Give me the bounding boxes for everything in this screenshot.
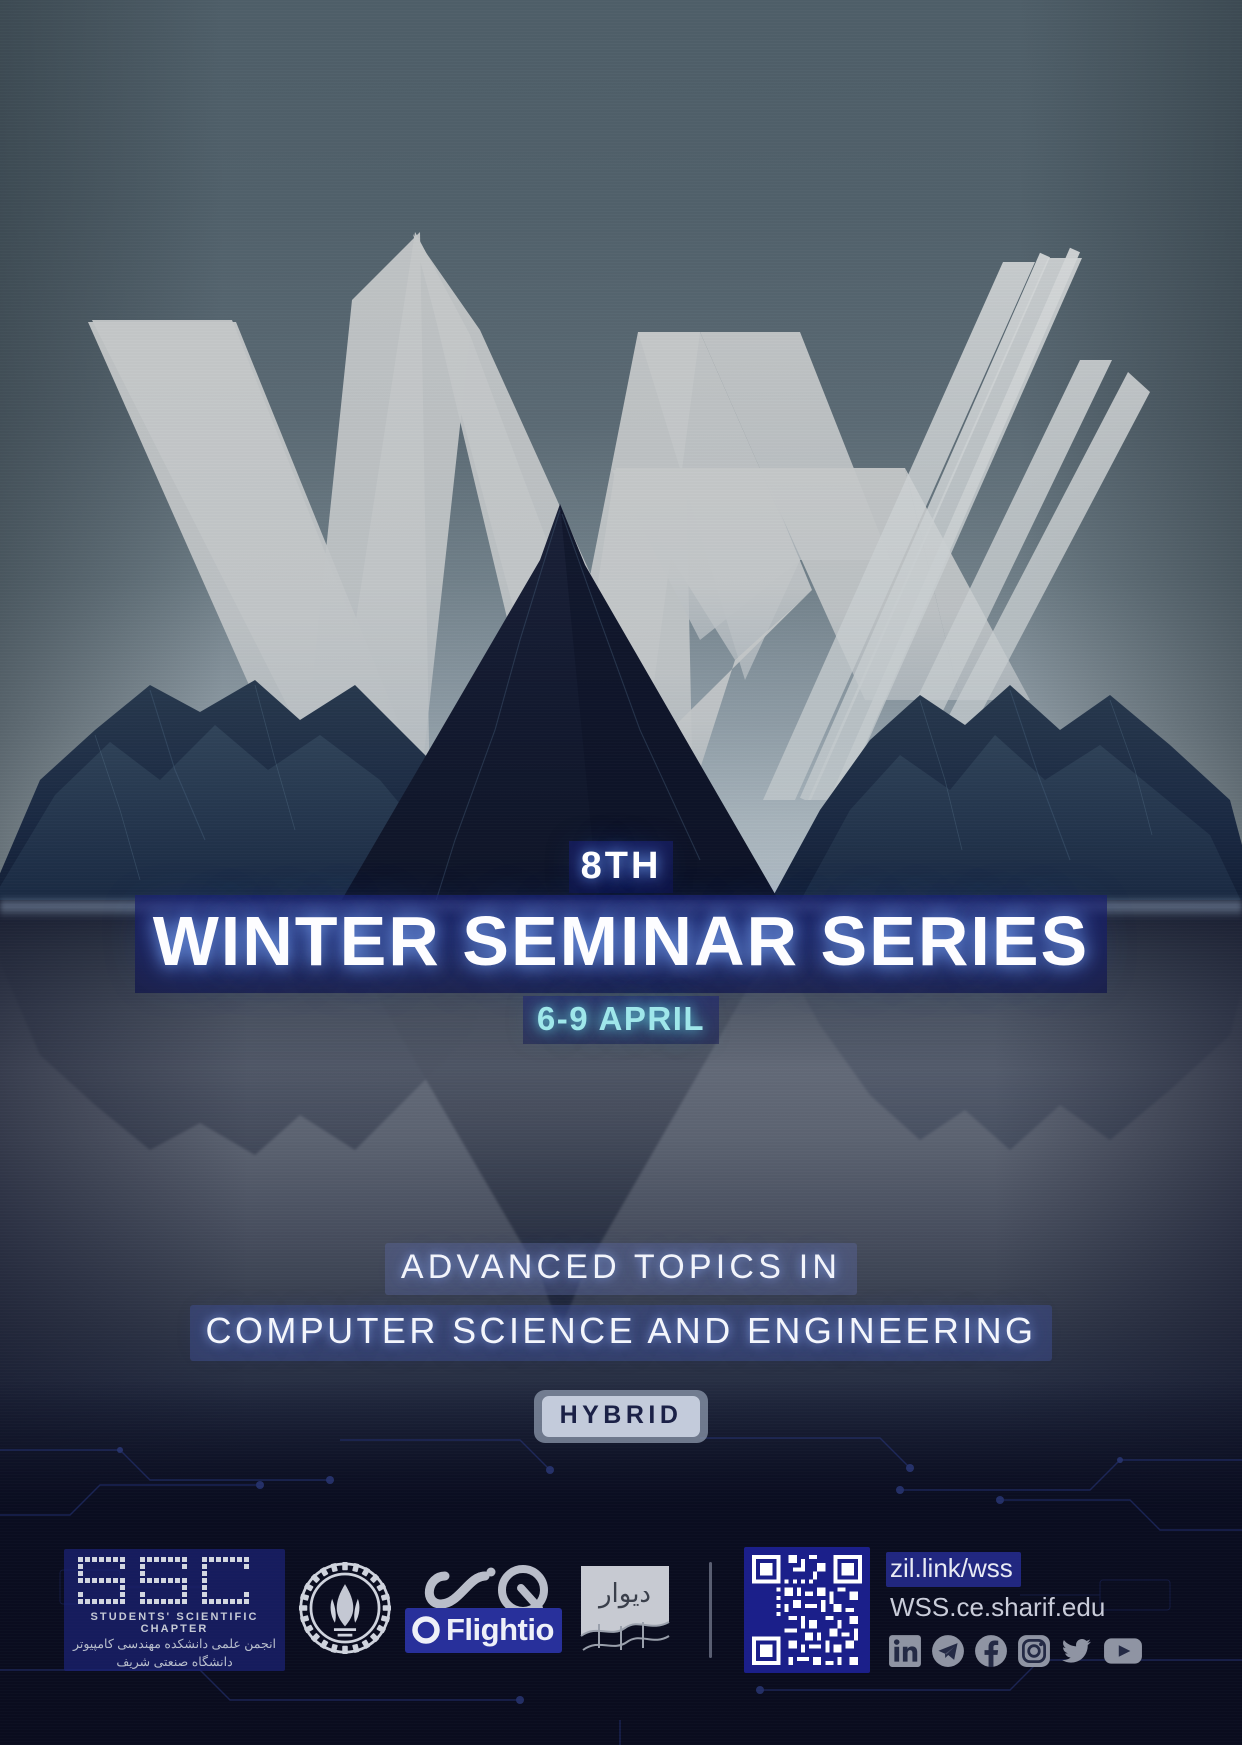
ordinal-label: 8TH	[0, 845, 1242, 888]
flightio-circle-icon	[411, 1615, 441, 1645]
page-title: WINTER SEMINAR SERIES	[0, 895, 1242, 993]
flightio-wordmark: Flightio	[405, 1608, 562, 1653]
wss-poster: 8TH WINTER SEMINAR SERIES 6-9 APRIL ADVA…	[0, 0, 1242, 1745]
ssc-persian-line-2: دانشگاه صنعتی شریف	[72, 1654, 277, 1671]
ssc-persian-line-1: انجمن علمی دانشکده مهندسی کامپیوتر	[72, 1636, 277, 1653]
social-links	[886, 1634, 1143, 1668]
subtitle-2-text: COMPUTER SCIENCE AND ENGINEERING	[190, 1305, 1053, 1361]
website-link[interactable]: WSS.ce.sharif.edu	[886, 1591, 1143, 1626]
twitter-icon[interactable]	[1060, 1634, 1094, 1668]
telegram-icon[interactable]	[931, 1634, 965, 1668]
sponsor-divar[interactable]: دیوار	[569, 1560, 681, 1661]
sponsor-row: STUDENTS' SCIENTIFIC CHAPTER انجمن علمی …	[64, 1547, 1143, 1673]
format-badge: HYBRID	[0, 1390, 1242, 1443]
flightio-label: Flightio	[446, 1612, 554, 1648]
youtube-icon[interactable]	[1103, 1634, 1143, 1668]
sharif-gear-logo-icon	[299, 1562, 391, 1654]
footer: STUDENTS' SCIENTIFIC CHAPTER انجمن علمی …	[0, 1520, 1242, 1700]
footer-divider	[709, 1562, 712, 1658]
divar-logo-icon: دیوار	[569, 1560, 681, 1656]
facebook-icon[interactable]	[974, 1634, 1008, 1668]
ssc-dot-matrix-icon	[72, 1555, 261, 1609]
event-dates: 6-9 APRIL	[0, 1000, 1242, 1038]
sponsor-flightio[interactable]: Flightio	[405, 1562, 555, 1658]
instagram-icon[interactable]	[1017, 1634, 1051, 1668]
contact-links: zil.link/wss WSS.ce.sharif.edu	[886, 1552, 1143, 1668]
badge-outer: HYBRID	[534, 1390, 709, 1443]
svg-text:دیوار: دیوار	[597, 1579, 651, 1609]
sponsor-ssc[interactable]: STUDENTS' SCIENTIFIC CHAPTER انجمن علمی …	[64, 1549, 285, 1671]
sponsor-sharif-university[interactable]	[299, 1562, 391, 1659]
ssc-tagline: STUDENTS' SCIENTIFIC CHAPTER	[72, 1611, 277, 1635]
dates-text: 6-9 APRIL	[523, 996, 719, 1044]
subtitle-line-2: COMPUTER SCIENCE AND ENGINEERING	[0, 1310, 1242, 1352]
subtitle-1-text: ADVANCED TOPICS IN	[385, 1243, 857, 1295]
subtitle-line-1: ADVANCED TOPICS IN	[0, 1248, 1242, 1287]
short-link[interactable]: zil.link/wss	[886, 1552, 1021, 1587]
linkedin-icon[interactable]	[888, 1634, 922, 1668]
qr-code[interactable]	[744, 1547, 870, 1673]
status-badge: HYBRID	[542, 1396, 701, 1437]
contact-block: zil.link/wss WSS.ce.sharif.edu	[744, 1547, 1143, 1673]
main-title-text: WINTER SEMINAR SERIES	[135, 895, 1108, 993]
ordinal-text: 8TH	[569, 841, 674, 893]
